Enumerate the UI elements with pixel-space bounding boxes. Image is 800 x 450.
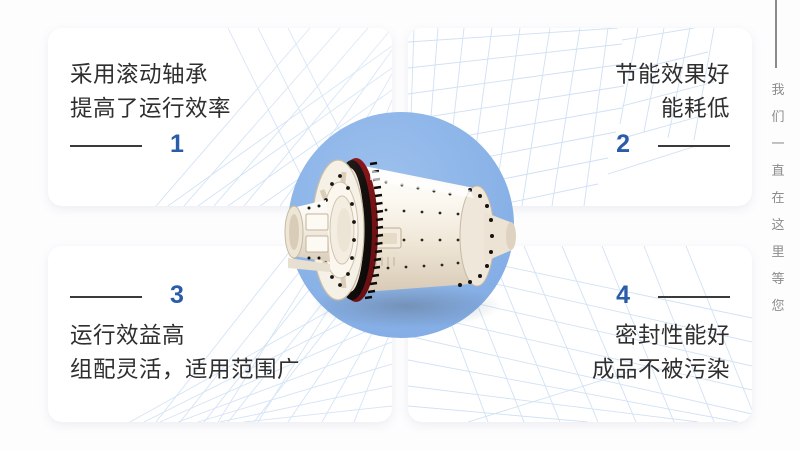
- card-1-rule: [70, 145, 142, 147]
- page-root: 采用滚动轴承 提高了运行效率 1 节能效果好 能耗低 2: [0, 0, 800, 450]
- card-3-rule: [70, 296, 142, 298]
- side-vertical-strip: 我们一直在这里等您: [766, 0, 790, 450]
- hero-circle-backdrop: [288, 112, 514, 338]
- card-1-line-1: 采用滚动轴承: [70, 58, 208, 92]
- card-3-line-1: 运行效益高: [70, 319, 185, 353]
- vertical-divider-line: [775, 0, 777, 68]
- card-1-number: 1: [170, 132, 184, 157]
- side-vertical-char: 您: [766, 292, 790, 319]
- card-2-line-2: 能耗低: [661, 92, 730, 126]
- card-4-number: 4: [616, 283, 630, 308]
- side-vertical-char: 我: [766, 76, 790, 103]
- side-vertical-char: 一: [766, 130, 790, 157]
- side-vertical-char: 直: [766, 157, 790, 184]
- card-2-line-1: 节能效果好: [615, 58, 730, 92]
- card-4-line-2: 成品不被污染: [592, 353, 730, 387]
- card-3-number: 3: [170, 283, 184, 308]
- card-4-line-1: 密封性能好: [615, 319, 730, 353]
- side-vertical-char: 们: [766, 103, 790, 130]
- card-2-number: 2: [616, 132, 630, 157]
- side-vertical-char: 这: [766, 211, 790, 238]
- card-2-rule: [658, 145, 730, 147]
- side-vertical-char: 等: [766, 265, 790, 292]
- card-1-line-2: 提高了运行效率: [70, 92, 231, 126]
- side-vertical-char: 里: [766, 238, 790, 265]
- card-3-line-2: 组配灵活，适用范围广: [70, 353, 300, 387]
- card-4-rule: [658, 296, 730, 298]
- side-vertical-text: 我们一直在这里等您: [766, 76, 790, 319]
- side-vertical-char: 在: [766, 184, 790, 211]
